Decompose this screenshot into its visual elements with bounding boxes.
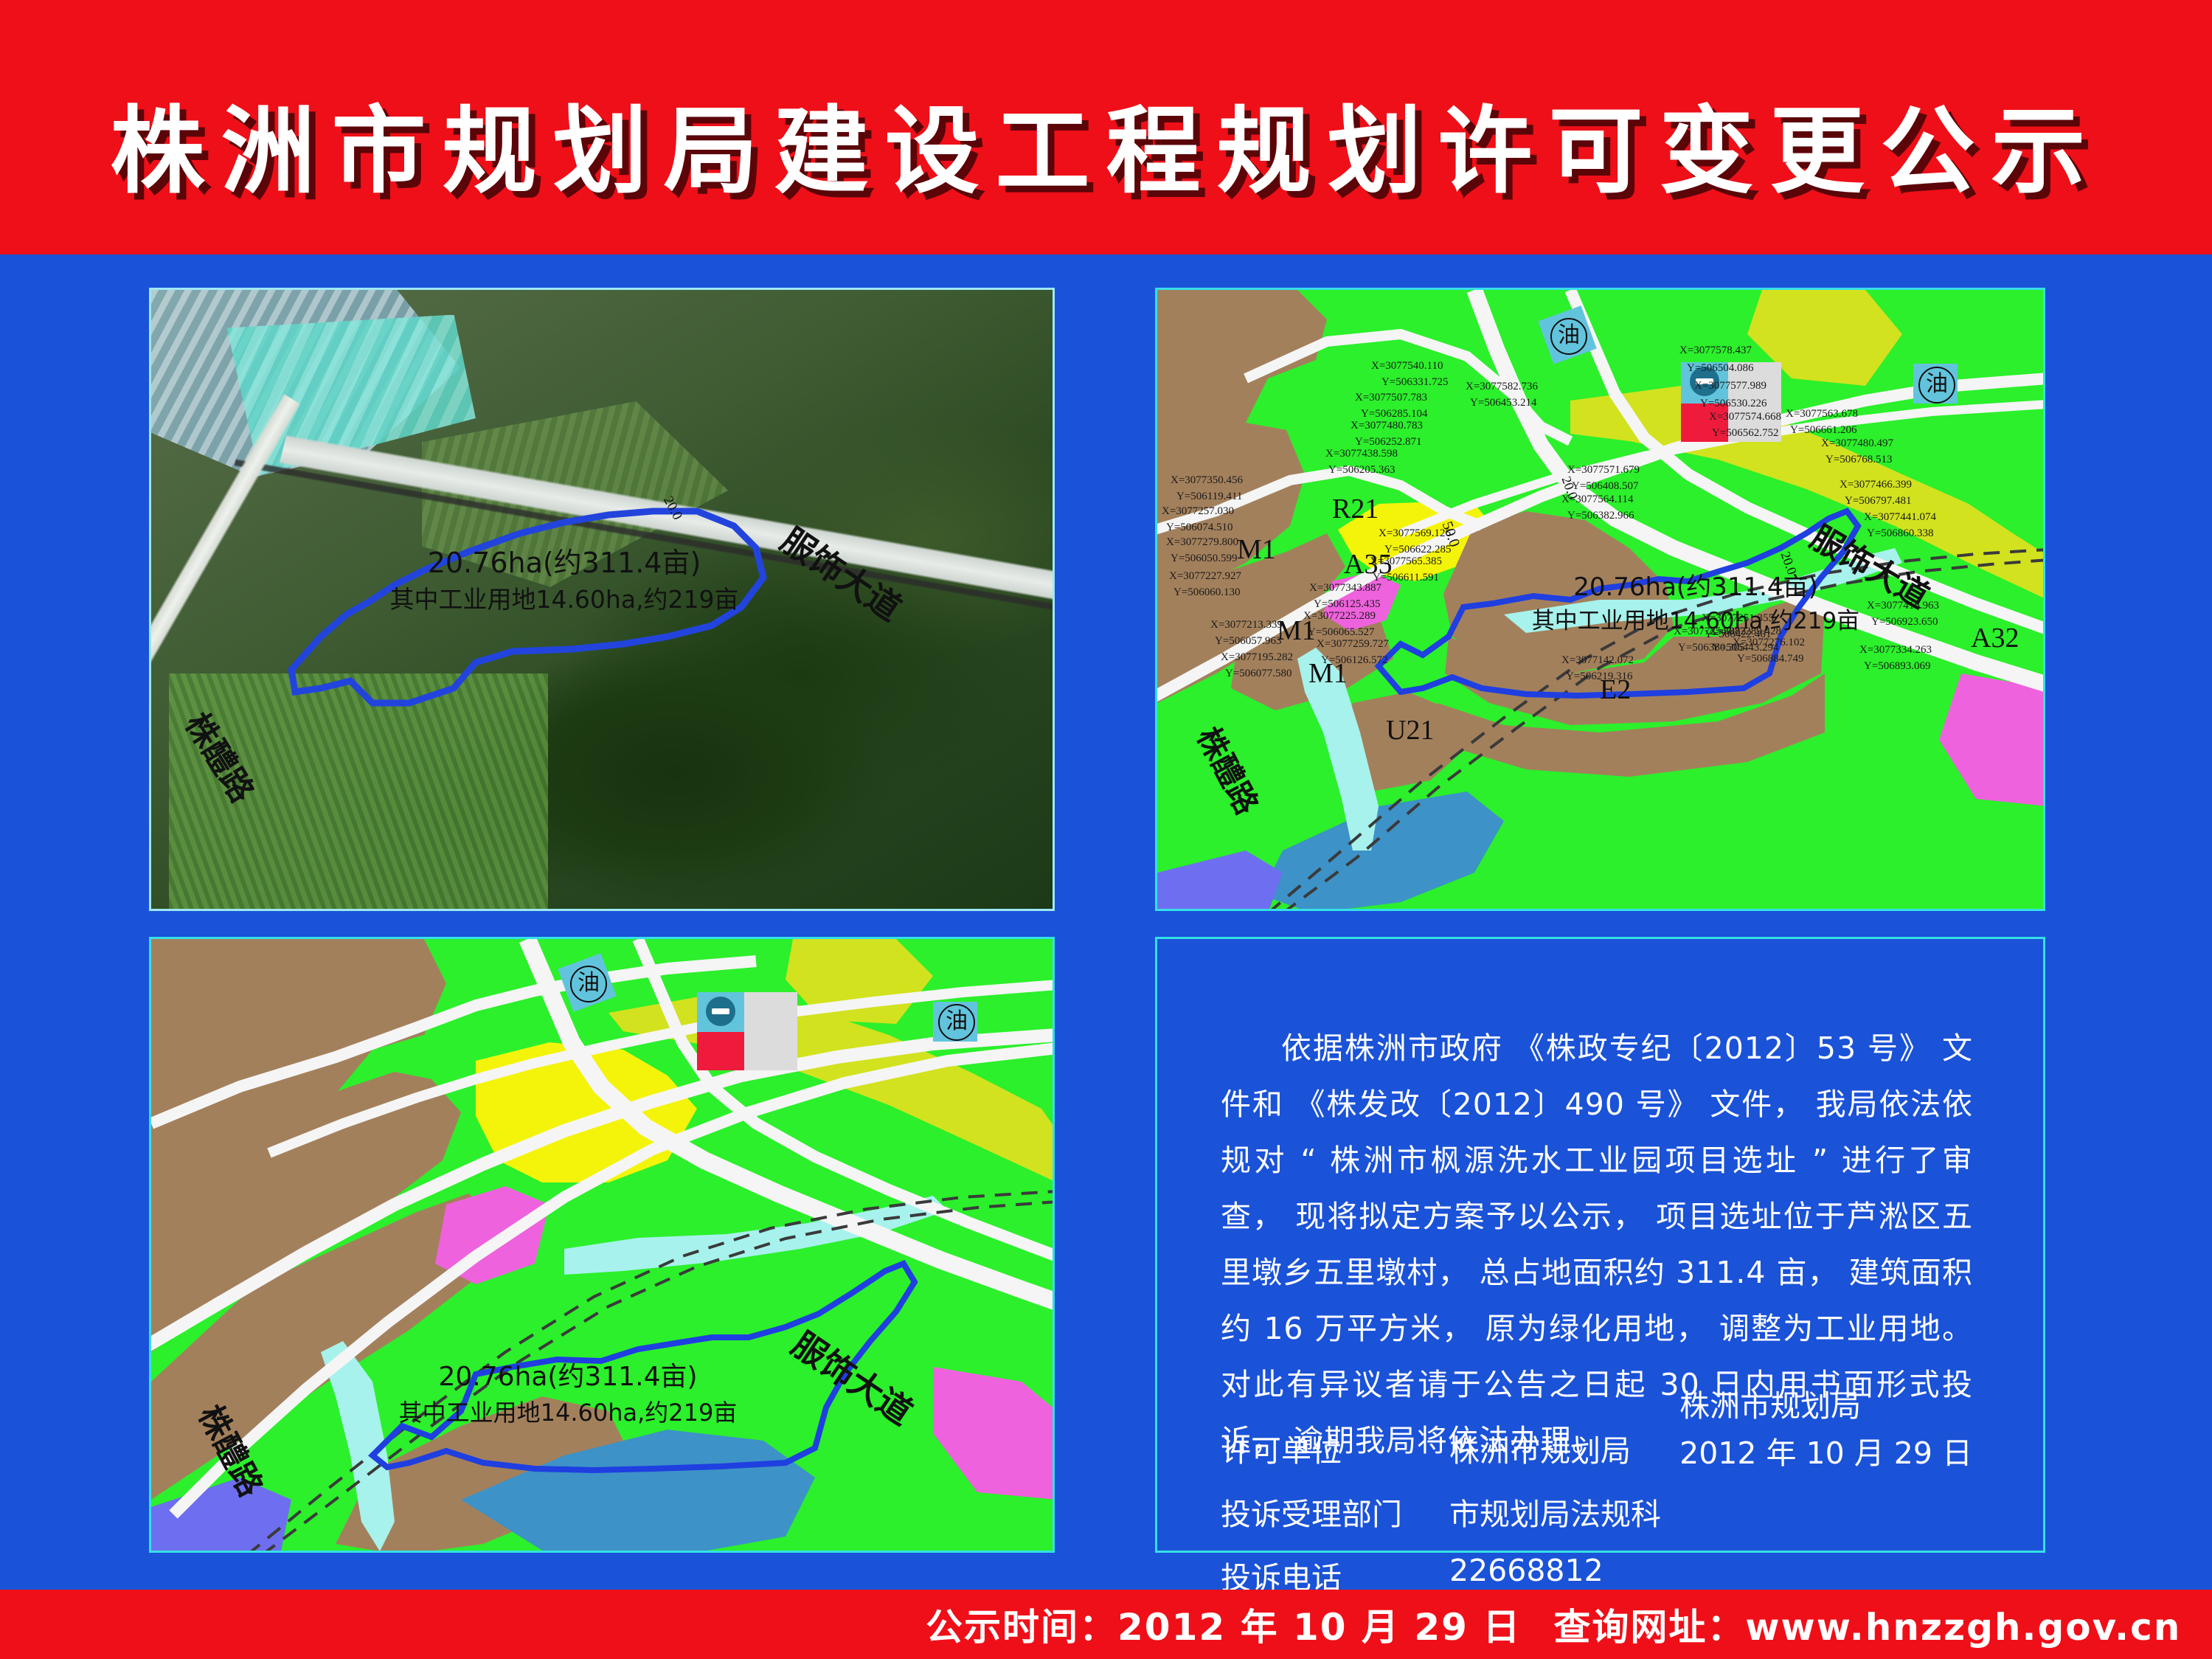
oil-icon-1: 油 bbox=[1550, 318, 1587, 355]
coord-y-23: Y=506119.411 bbox=[1176, 491, 1242, 503]
footer-site-label: 查询网址： bbox=[1553, 1606, 1745, 1649]
location-oil-icon-1: 油 bbox=[570, 966, 607, 1002]
coord-x-22: X=3077438.598 bbox=[1325, 448, 1398, 460]
coord-y-5: Y=506797.481 bbox=[1845, 495, 1912, 508]
zone-code-A32: A32 bbox=[1971, 622, 2019, 654]
coord-x-21: X=3077480.783 bbox=[1351, 420, 1423, 432]
coord-x-26: X=3077227.927 bbox=[1169, 570, 1241, 583]
coord-y-0: Y=506504.086 bbox=[1687, 362, 1754, 375]
zone-code-U21: U21 bbox=[1386, 714, 1434, 747]
coord-x-23: X=3077350.456 bbox=[1171, 474, 1243, 487]
coord-x-17: X=3077565.385 bbox=[1370, 555, 1442, 568]
footer-publish-label: 公示时间： bbox=[926, 1606, 1117, 1649]
coord-x-25: X=3077279.800 bbox=[1166, 536, 1238, 549]
location-area-line1: 20.76ha(约311.4亩) bbox=[332, 1360, 804, 1395]
coord-y-19: Y=506331.725 bbox=[1381, 376, 1449, 389]
coord-y-27: Y=506057.963 bbox=[1215, 635, 1282, 648]
coord-x-20: X=3077507.783 bbox=[1355, 392, 1427, 404]
coord-x-30: X=3077225.289 bbox=[1303, 610, 1376, 623]
coord-x-0: X=3077578.437 bbox=[1679, 344, 1752, 357]
notice-label-complaint-dept: 投诉受理部门 bbox=[1221, 1489, 1449, 1534]
coord-x-1: X=3077577.989 bbox=[1694, 380, 1767, 392]
coord-y-2: Y=506562.752 bbox=[1712, 427, 1779, 440]
notice-text-panel: 依据株洲市政府 《株政专纪〔2012〕53 号》 文件和 《株发改〔2012〕4… bbox=[1155, 937, 2045, 1553]
coord-x-31: X=3077259.727 bbox=[1317, 638, 1389, 651]
coord-x-8: X=3077334.263 bbox=[1859, 644, 1932, 657]
coord-x-4: X=3077480.497 bbox=[1821, 437, 1893, 450]
location-area-line2: 其中工业用地14.60ha,约219亩 bbox=[332, 1395, 804, 1430]
zoning-map-panel: R21 M1 A35 M1 M1 U21 E2 A32 油 油 X=307757… bbox=[1155, 288, 2045, 911]
coord-x-19: X=3077540.110 bbox=[1371, 360, 1443, 373]
coord-y-6: Y=506860.338 bbox=[1867, 527, 1934, 540]
coord-y-30: Y=506065.527 bbox=[1308, 626, 1375, 639]
notice-signature-date: 2012 年 10 月 29 日 bbox=[1679, 1430, 1972, 1477]
satellite-image-panel: 20.76ha(约311.4亩) 其中工业用地14.60ha,约219亩 服饰大… bbox=[149, 288, 1055, 911]
location-area-label: 20.76ha(约311.4亩) 其中工业用地14.60ha,约219亩 bbox=[332, 1360, 804, 1430]
coord-y-31: Y=506126.572 bbox=[1321, 654, 1388, 667]
coord-y-4: Y=506768.513 bbox=[1826, 454, 1893, 466]
location-landuse-shapes bbox=[151, 939, 1055, 1553]
location-bus-icon bbox=[706, 997, 735, 1026]
coord-x-24: X=3077257.030 bbox=[1162, 505, 1234, 518]
notice-label-permit-unit: 许可单位 bbox=[1221, 1426, 1449, 1470]
coord-y-25: Y=506050.599 bbox=[1171, 553, 1238, 565]
footer-content: 公示时间：2012 年 10 月 29 日查询网址：www.hnzzgh.gov… bbox=[926, 1598, 2181, 1651]
coord-y-8: Y=506893.069 bbox=[1864, 660, 1931, 673]
footer-publish-date: 2012 年 10 月 29 日 bbox=[1117, 1606, 1521, 1649]
footer-banner: 公示时间：2012 年 10 月 29 日查询网址：www.hnzzgh.gov… bbox=[0, 1590, 2212, 1659]
satellite-area-label: 20.76ha(约311.4亩) 其中工业用地14.60ha,约219亩 bbox=[336, 544, 793, 618]
coord-x-14: X=3077571.679 bbox=[1567, 464, 1640, 477]
coord-x-18: X=3077582.736 bbox=[1466, 381, 1538, 393]
satellite-area-line2: 其中工业用地14.60ha,约219亩 bbox=[336, 581, 793, 618]
coord-y-28: Y=506077.580 bbox=[1225, 668, 1292, 680]
coord-x-28: X=3077195.282 bbox=[1221, 651, 1293, 664]
coord-x-6: X=3077441.074 bbox=[1864, 511, 1936, 524]
coord-x-27: X=3077213.339 bbox=[1210, 619, 1283, 631]
coord-y-12: Y=506380.305 bbox=[1678, 642, 1745, 654]
coord-y-26: Y=506060.130 bbox=[1173, 586, 1241, 599]
notice-row-complaint-dept: 投诉受理部门 市规划局法规科 bbox=[1221, 1489, 1973, 1534]
location-transit-block-red bbox=[697, 1032, 744, 1070]
coord-y-24: Y=506074.510 bbox=[1166, 522, 1233, 534]
coord-x-29: X=3077343.887 bbox=[1309, 582, 1381, 595]
coord-y-3: Y=506661.206 bbox=[1790, 424, 1857, 437]
location-map-panel: 油 油 20.76ha(约311.4亩) 其中工业用地14.60ha,约219亩… bbox=[149, 937, 1055, 1553]
coord-x-5: X=3077466.399 bbox=[1840, 479, 1912, 491]
page-title: 株洲市规划局建设工程规划许可变更公示 bbox=[110, 75, 2101, 211]
coord-x-3: X=3077563.678 bbox=[1786, 408, 1858, 420]
coord-x-13: X=3077142.072 bbox=[1561, 654, 1634, 667]
title-banner: 株洲市规划局建设工程规划许可变更公示 bbox=[0, 0, 2212, 254]
zone-code-R21: R21 bbox=[1332, 493, 1379, 525]
coord-y-20: Y=506285.104 bbox=[1361, 408, 1428, 420]
coord-y-29: Y=506125.435 bbox=[1314, 598, 1381, 611]
notice-signature: 株洲市规划局 2012 年 10 月 29 日 bbox=[1679, 1382, 1972, 1477]
location-transit-block-grey bbox=[744, 992, 797, 1070]
coord-y-15: Y=506382.966 bbox=[1567, 510, 1634, 522]
coord-y-22: Y=506205.363 bbox=[1328, 464, 1395, 477]
coord-y-9: Y=506884.749 bbox=[1737, 653, 1804, 665]
notice-value-complaint-dept: 市规划局法规科 bbox=[1449, 1489, 1661, 1534]
notice-signature-org: 株洲市规划局 bbox=[1679, 1382, 1972, 1430]
footer-site-url: www.hnzzgh.gov.cn bbox=[1745, 1606, 2181, 1649]
coord-y-1: Y=506530.226 bbox=[1700, 398, 1767, 410]
satellite-area-line1: 20.76ha(约311.4亩) bbox=[336, 544, 793, 581]
coord-y-16: Y=506622.285 bbox=[1384, 544, 1452, 556]
location-oil-icon-2: 油 bbox=[938, 1004, 975, 1041]
coord-x-2: X=3077574.668 bbox=[1709, 411, 1781, 423]
coord-y-13: Y=506219.316 bbox=[1566, 671, 1633, 683]
coord-y-17: Y=506611.591 bbox=[1373, 572, 1439, 584]
notice-value-permit-unit: 株洲市规划局 bbox=[1449, 1426, 1631, 1470]
oil-icon-2: 油 bbox=[1918, 367, 1955, 404]
zoning-area-line2: 其中工业用地14.60ha,约219亩 bbox=[1467, 604, 1924, 638]
coord-y-21: Y=506252.871 bbox=[1355, 436, 1422, 448]
coord-y-14: Y=506408.507 bbox=[1572, 480, 1639, 493]
zone-code-M1-left: M1 bbox=[1237, 533, 1276, 566]
coord-y-18: Y=506453.214 bbox=[1470, 397, 1537, 409]
